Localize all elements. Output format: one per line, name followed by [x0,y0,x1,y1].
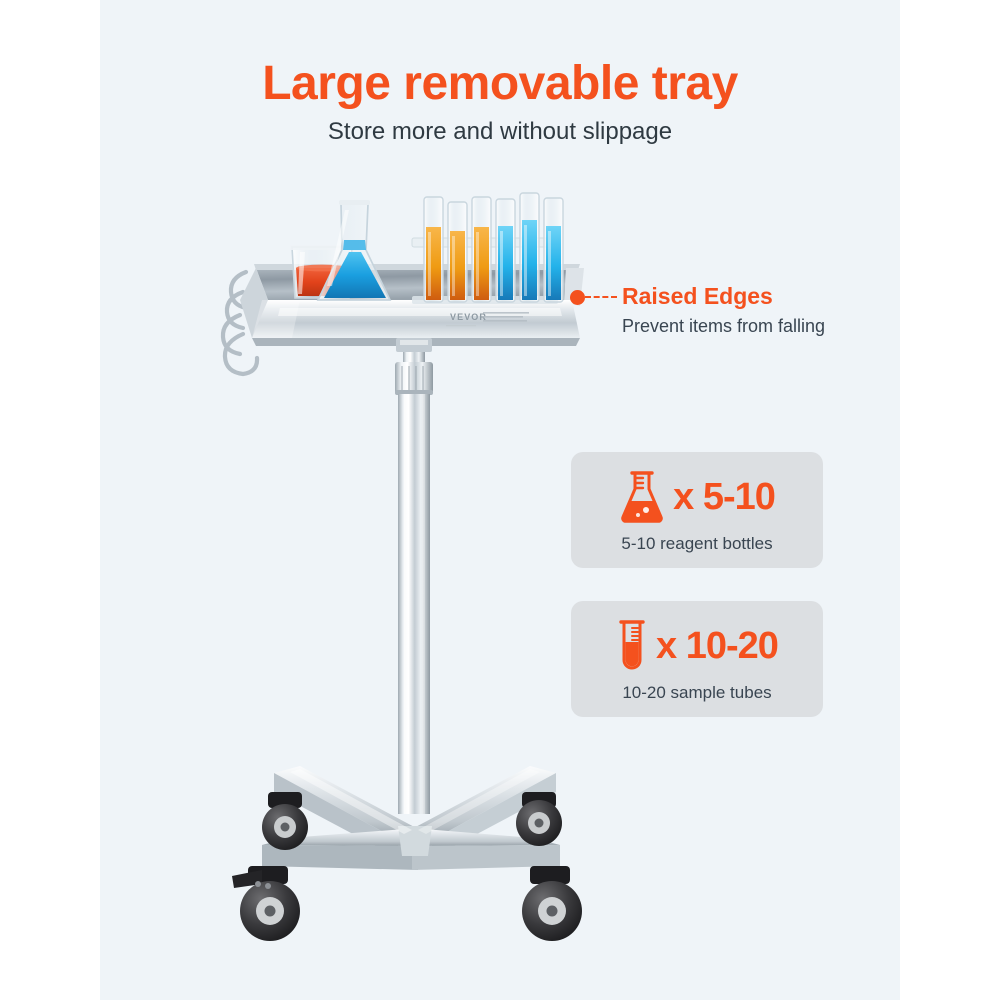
erlenmeyer-flask-icon [619,470,665,524]
caster-wheel [262,792,308,850]
caster-wheel-with-brake [232,866,300,941]
svg-text:VEVOR: VEVOR [450,312,487,322]
test-tube [496,199,515,302]
card-row: x 5-10 [571,466,823,528]
page-subtitle: Store more and without slippage [0,118,1000,146]
test-tube [544,198,563,302]
callout-title: Raised Edges [622,283,773,310]
card-quantity: x 5-10 [673,478,775,516]
test-tube [472,197,491,302]
callout-dot-icon [570,290,585,305]
caster-wheel [516,792,562,846]
callout-connector-line [585,296,617,298]
card-caption: 5-10 reagent bottles [571,534,823,554]
test-tube [520,193,539,302]
page-title: Large removable tray [0,56,1000,111]
test-tube [448,202,467,302]
capacity-card-sample-tubes: x 10-20 10-20 sample tubes [571,601,823,717]
card-row: x 10-20 [571,615,823,677]
card-quantity: x 10-20 [656,627,778,665]
tray-mount-bracket [396,338,432,352]
promo-image: VEVOR [0,0,1000,1000]
caster-wheel [522,866,582,941]
test-tube-icon [616,618,648,674]
callout-subtitle: Prevent items from falling [622,316,825,337]
card-caption: 10-20 sample tubes [571,683,823,703]
capacity-card-reagent-bottles: x 5-10 5-10 reagent bottles [571,452,823,568]
product-illustration: VEVOR [0,0,1000,1000]
telescoping-pole [395,352,433,814]
test-tube [424,197,443,302]
